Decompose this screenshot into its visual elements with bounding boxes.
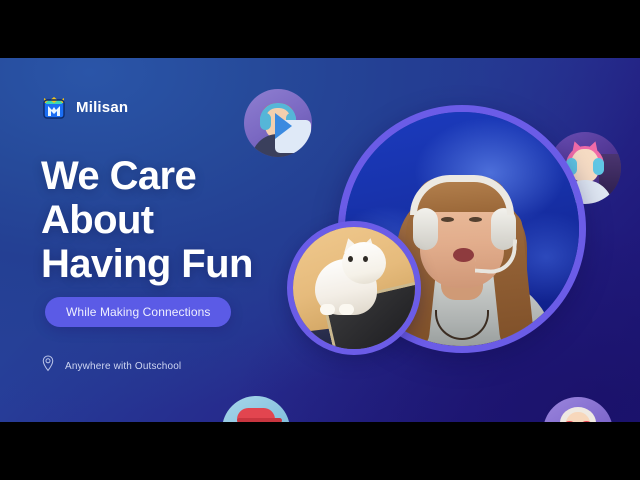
milisan-crown-m-logo-icon — [41, 94, 67, 120]
send-arrow-icon — [275, 113, 292, 139]
headline-line-1: We Care — [41, 154, 253, 198]
avatar-headset-person — [244, 89, 312, 157]
cat-head — [342, 242, 386, 284]
location-pin-icon — [41, 355, 55, 377]
avatar-elder-with-laptop — [543, 397, 613, 422]
letterbox-bar-top — [0, 0, 640, 58]
letterbox-bar-bottom — [0, 422, 640, 480]
subtitle-pill[interactable]: While Making Connections — [45, 297, 231, 327]
headline-line-2: About — [41, 198, 253, 242]
page-title: We Care About Having Fun — [41, 154, 253, 286]
cat-paw-left — [320, 304, 335, 315]
avatar-gamer-with-controller — [222, 396, 290, 422]
brand-name: Milisan — [76, 99, 128, 116]
slide-canvas: Milisan We Care About Having Fun While M… — [0, 58, 640, 422]
cat-video-bubble[interactable] — [287, 221, 421, 355]
headphone-earcup-right-icon — [593, 158, 604, 175]
headphone-earcup-left-icon — [260, 113, 270, 129]
subtitle-pill-label: While Making Connections — [66, 305, 210, 319]
cat-paw-right — [339, 304, 354, 315]
video-frame: Milisan We Care About Having Fun While M… — [0, 0, 640, 480]
brand-lockup: Milisan — [41, 94, 128, 120]
location-label: Anywhere with Outschool — [65, 361, 181, 372]
headline-line-3: Having Fun — [41, 242, 253, 286]
presenter-mouth — [453, 248, 474, 262]
location-line: Anywhere with Outschool — [41, 355, 181, 377]
cat-eye-right — [363, 256, 368, 262]
